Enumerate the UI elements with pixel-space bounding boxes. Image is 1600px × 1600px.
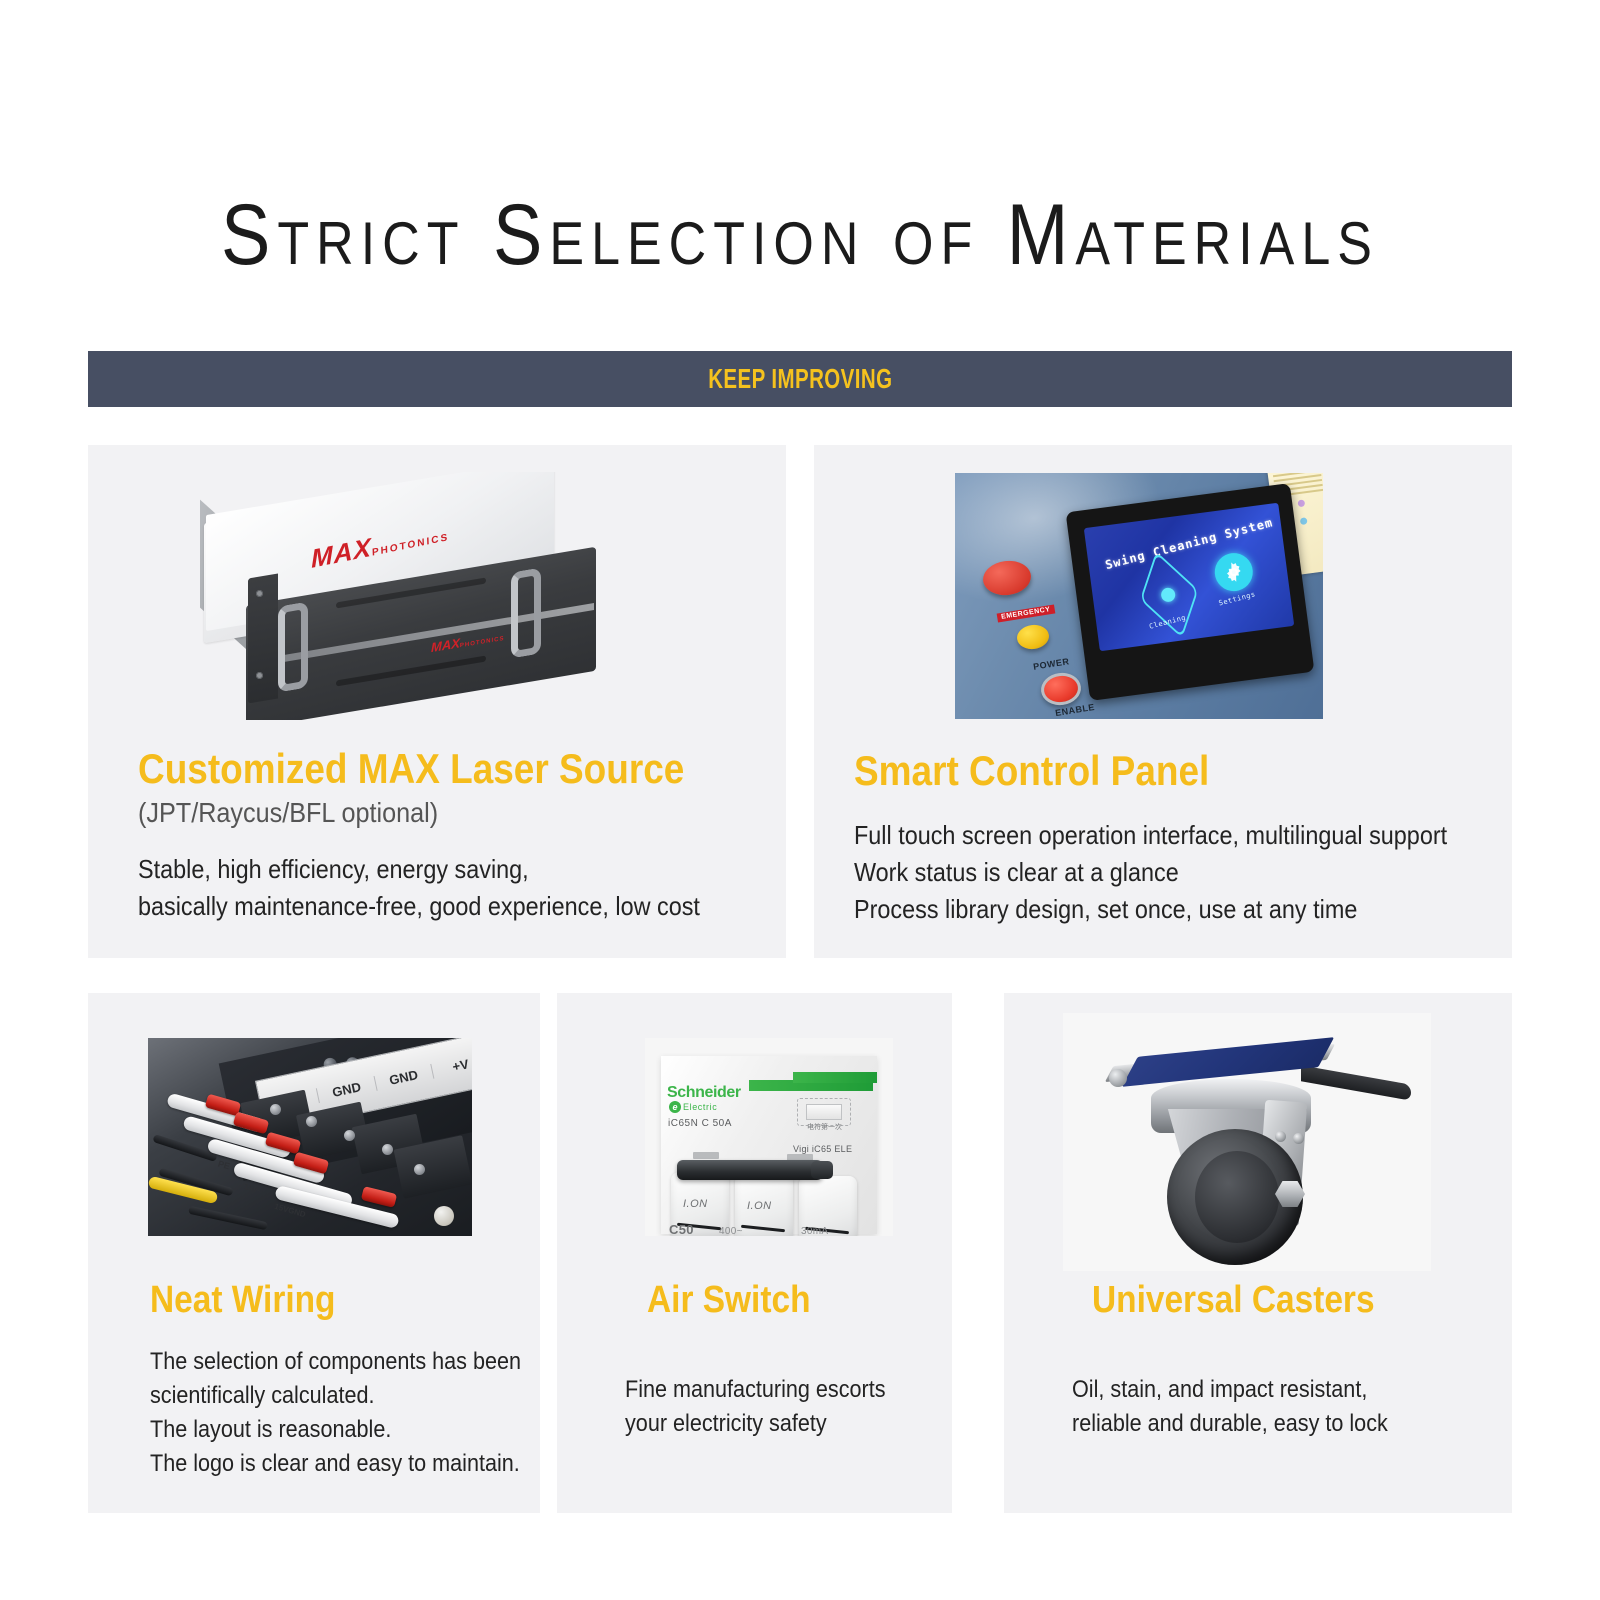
control-panel-headline: Smart Control Panel <box>854 750 1209 792</box>
card-laser-source: MAXPHOTONICS MAXPHOTONICS Customized MAX… <box>88 445 786 958</box>
card-universal-casters: Universal Casters Oil, stain, and impact… <box>1004 993 1512 1513</box>
control-panel-body-line-2: Work status is clear at a glance <box>854 854 1447 891</box>
laser-screw-2 <box>256 672 263 679</box>
caster-brake-lever <box>1301 1065 1411 1100</box>
vigi-model-label: Vigi iC65 ELE <box>793 1144 852 1154</box>
universal-casters-body-line-1: Oil, stain, and impact resistant, <box>1072 1373 1388 1407</box>
page-title: Strict Selection of Materials <box>0 185 1600 284</box>
terminal-screw-3 <box>344 1130 355 1141</box>
brand-green-band-right <box>793 1072 877 1083</box>
breaker-housing: Schneider e Electric iC65N C 50A 电符第一次 V… <box>661 1056 877 1234</box>
terminal-screw-1 <box>270 1104 281 1115</box>
caster-mount-nut <box>1109 1069 1127 1087</box>
rocker-label-1: I.ON <box>683 1198 708 1210</box>
card-control-panel: EMERGENCY POWER ENABLE Swing Cleaning Sy… <box>814 445 1512 958</box>
caster-screw-2 <box>1293 1133 1304 1144</box>
laser-source-subhead: (JPT/Raycus/BFL optional) <box>138 797 438 829</box>
schneider-brand-text: Schneider <box>667 1084 741 1102</box>
laser-source-body: Stable, high efficiency, energy saving, … <box>138 851 700 925</box>
caster-screw-1 <box>1275 1131 1286 1142</box>
air-switch-body-line-1: Fine manufacturing escorts <box>625 1373 886 1407</box>
neat-wiring-body-line-3: The layout is reasonable. <box>150 1413 521 1447</box>
laser-handle-right <box>511 567 541 658</box>
potentiometer-knob <box>434 1206 454 1226</box>
air-switch-body-line-2: your electricity safety <box>625 1407 886 1441</box>
terminal-screw-4 <box>382 1144 393 1155</box>
terminal-screw-2 <box>306 1116 317 1127</box>
caster-wheel-hub <box>1195 1151 1279 1243</box>
terminal-label-plus-v: +V <box>431 1052 472 1079</box>
neat-wiring-headline: Neat Wiring <box>150 1281 335 1319</box>
schneider-air-switch-photo: Schneider e Electric iC65N C 50A 电符第一次 V… <box>645 1038 893 1236</box>
neat-wiring-photo: -V GND GND +V PE 15V- 15VGND <box>148 1038 472 1236</box>
control-panel-body-line-3: Process library design, set once, use at… <box>854 891 1447 928</box>
laser-source-body-line-1: Stable, high efficiency, energy saving, <box>138 851 700 888</box>
terminal-screw-5 <box>414 1164 425 1175</box>
laser-screw-1 <box>256 590 263 597</box>
vigi-cn-label: 电符第一次 <box>807 1122 842 1132</box>
laser-rack-ear-left <box>248 573 278 703</box>
neat-wiring-body-line-1: The selection of components has been <box>150 1345 521 1379</box>
breaker-rating-current: 30mA <box>801 1226 828 1236</box>
breaker-rating-c50: C50 <box>669 1222 694 1236</box>
universal-casters-body: Oil, stain, and impact resistant, reliab… <box>1072 1373 1388 1441</box>
universal-casters-body-line-2: reliable and durable, easy to lock <box>1072 1407 1388 1441</box>
universal-caster-photo <box>1063 1013 1431 1271</box>
settings-label: Settings <box>1218 590 1257 607</box>
keep-improving-banner: KEEP IMPROVING <box>88 351 1512 407</box>
touchscreen-display[interactable]: Swing Cleaning System Cleaning Settings <box>1084 503 1295 652</box>
terminal-label-gnd-1: GND <box>317 1076 377 1103</box>
laser-handle-left <box>278 601 308 692</box>
neat-wiring-body-line-2: scientifically calculated. <box>150 1379 521 1413</box>
laser-source-body-line-2: basically maintenance-free, good experie… <box>138 888 700 925</box>
max-laser-source-photo: MAXPHOTONICS MAXPHOTONICS <box>186 472 606 720</box>
rocker-label-2: I.ON <box>747 1200 772 1212</box>
schneider-brand-sub: Electric <box>683 1102 717 1112</box>
banner-label: KEEP IMPROVING <box>708 363 892 395</box>
smart-control-panel-photo: EMERGENCY POWER ENABLE Swing Cleaning Sy… <box>955 473 1323 719</box>
schneider-logo-mark: e <box>669 1101 681 1113</box>
rocker-switch-2[interactable]: I.ON <box>735 1174 793 1236</box>
settings-gear-icon[interactable] <box>1211 549 1257 595</box>
touchscreen-bezel: Swing Cleaning System Cleaning Settings <box>1066 483 1315 701</box>
terminal-label-gnd-2: GND <box>374 1063 434 1090</box>
card-neat-wiring: -V GND GND +V PE 15V- 15VGND N <box>88 993 540 1513</box>
control-panel-body: Full touch screen operation interface, m… <box>854 817 1447 928</box>
breaker-model-label: iC65N C 50A <box>668 1118 732 1129</box>
universal-casters-headline: Universal Casters <box>1092 1281 1375 1319</box>
air-switch-headline: Air Switch <box>647 1281 811 1319</box>
air-switch-body: Fine manufacturing escorts your electric… <box>625 1373 886 1441</box>
neat-wiring-body-line-4: The logo is clear and easy to maintain. <box>150 1447 521 1481</box>
control-panel-body-line-1: Full touch screen operation interface, m… <box>854 817 1447 854</box>
card-air-switch: Schneider e Electric iC65N C 50A 电符第一次 V… <box>557 993 952 1513</box>
breaker-toggle-lever[interactable] <box>677 1160 823 1180</box>
neat-wiring-body: The selection of components has been sci… <box>150 1345 521 1481</box>
laser-source-headline: Customized MAX Laser Source <box>138 748 684 790</box>
breaker-rating-voltage: 400~ <box>719 1226 743 1236</box>
indicator-tab-left <box>693 1152 719 1159</box>
